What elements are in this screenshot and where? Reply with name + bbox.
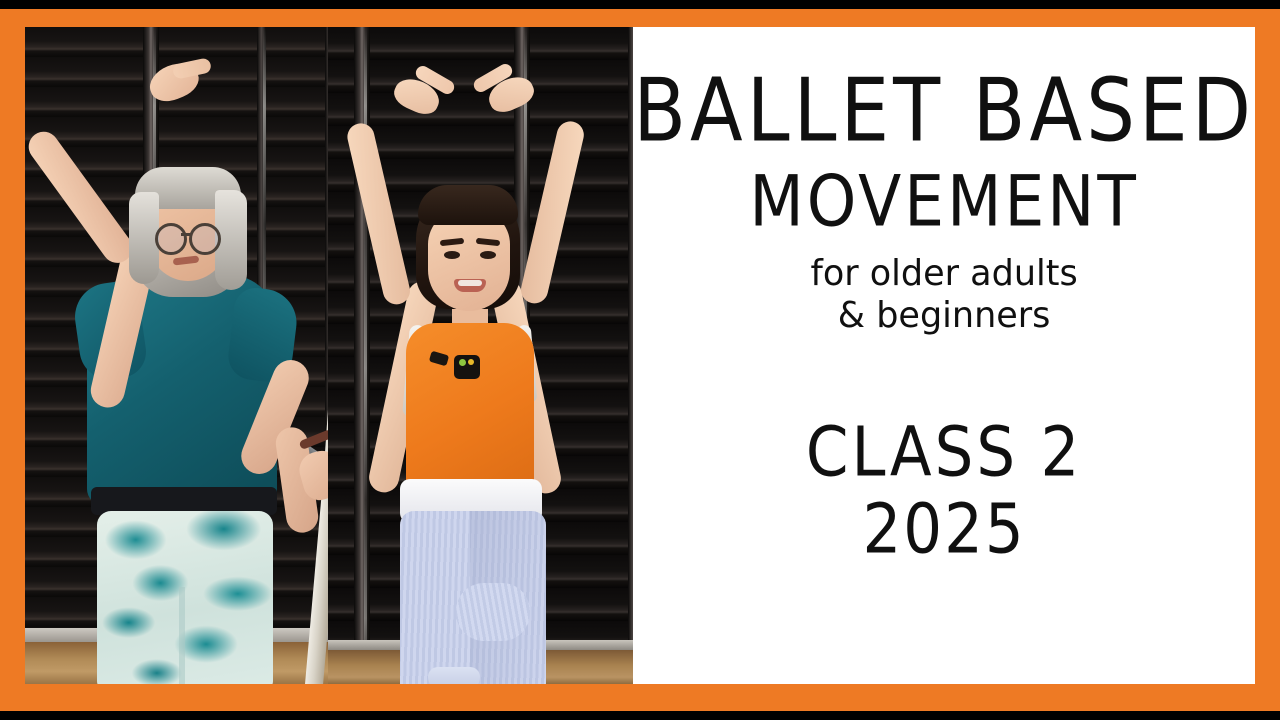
passe-knee (456, 583, 530, 641)
video-thumbnail: BALLET BASED MOVEMENT for older adults &… (0, 0, 1280, 720)
photo-collage (25, 27, 633, 684)
title-line-1: BALLET BASED (633, 68, 1255, 156)
eyeglasses-bridge (181, 233, 191, 236)
eyeglasses-lens-left (155, 223, 187, 255)
supporting-foot (428, 667, 480, 684)
hair-crown (418, 185, 518, 225)
subtitle-line-2: & beginners (838, 299, 1051, 335)
subtitle-line-1: for older adults (811, 257, 1078, 293)
thumbnail-content: BALLET BASED MOVEMENT for older adults &… (25, 27, 1255, 684)
class-label: CLASS 2 (806, 418, 1082, 486)
marbled-leggings (97, 511, 273, 684)
lapel-microphone (454, 355, 480, 379)
title-line-2: MOVEMENT (749, 166, 1139, 237)
title-text-panel: BALLET BASED MOVEMENT for older adults &… (633, 27, 1255, 684)
year-label: 2025 (862, 495, 1025, 563)
photo-older-adult-dancer (25, 27, 328, 684)
photo-instructor-dancer (328, 27, 633, 684)
eyeglasses-lens-right (189, 223, 221, 255)
teeth (458, 280, 482, 286)
leg-separation (179, 587, 185, 684)
